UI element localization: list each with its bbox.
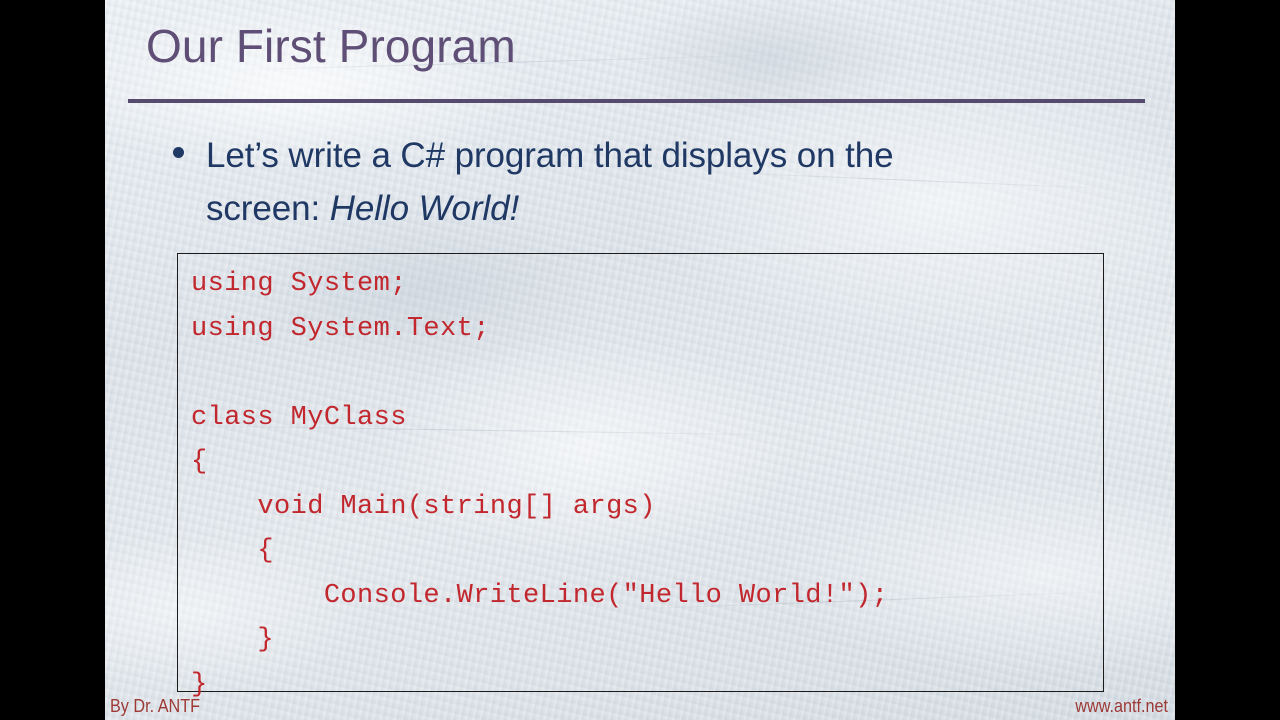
list-item: Let’s write a C# program that displays o… [173,129,1103,235]
code-snippet-box: using System; using System.Text; class M… [177,253,1104,692]
letterbox-bar-right [1175,0,1280,720]
slide-canvas: Our First Program Let’s write a C# progr… [105,0,1175,720]
presentation-screen: Our First Program Let’s write a C# progr… [0,0,1280,720]
footer-website[interactable]: www.antf.net [1075,696,1168,717]
slide-title: Our First Program [146,21,1146,73]
letterbox-bar-left [0,0,105,720]
title-underline-rule [128,99,1145,103]
bullet-list: Let’s write a C# program that displays o… [173,129,1103,235]
bullet-item-text: Let’s write a C# program that displays o… [206,129,1103,235]
bullet-text-line1: Let’s write a C# program that displays o… [206,136,893,175]
code-snippet-text: using System; using System.Text; class M… [191,262,888,707]
footer-author: By Dr. ANTF [110,696,200,717]
bullet-text-emphasis: Hello World! [330,189,519,228]
bullet-text-line2: screen: [206,189,330,228]
bullet-dot-icon [173,147,184,158]
